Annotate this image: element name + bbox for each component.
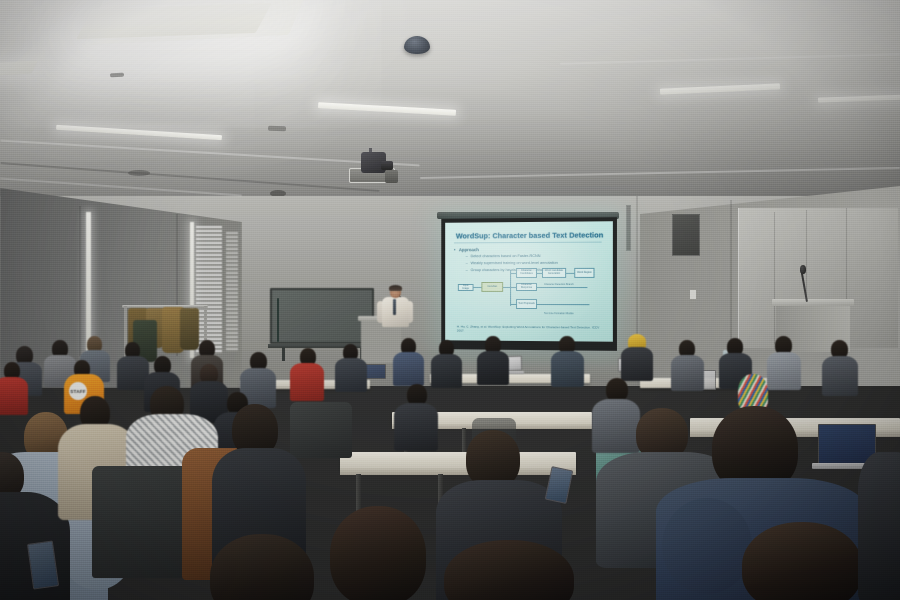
attendee-head <box>330 506 426 600</box>
attendee-torso <box>393 352 424 386</box>
ceiling-vent <box>268 126 286 132</box>
attendee-torso <box>621 347 653 381</box>
attendee-torso <box>767 352 801 390</box>
diagram-connector <box>537 304 589 305</box>
slide-bullet-2: Detect characters based on Faster-RCNN <box>471 254 541 258</box>
diagram-connector <box>474 287 482 288</box>
diagram-block-input: Input Image <box>458 284 474 291</box>
presenter <box>378 286 412 330</box>
attendee-torso <box>335 358 367 392</box>
projector-junction-box <box>385 170 398 183</box>
attendee-shoulder <box>662 498 752 594</box>
diagram-block-char-cand: Character Candidates <box>516 268 537 278</box>
projector-lens <box>381 161 393 170</box>
attendee-torso <box>671 355 704 391</box>
lecture-hall-photo: WordSup: Character based Text Detection … <box>0 0 900 600</box>
presenter-hair <box>389 285 402 291</box>
diagram-block-convnet: ConvNet <box>481 282 503 292</box>
whiteboard-cable <box>277 298 279 342</box>
diagram-connector <box>566 273 574 274</box>
diagram-block-text-proposals: Text Proposals <box>516 299 537 309</box>
wall-corner-joint <box>636 196 638 352</box>
wall-outlet <box>690 290 696 299</box>
attendee-torso <box>290 363 324 401</box>
attendee-torso <box>822 356 858 396</box>
lectern-right-top <box>772 299 854 306</box>
diagram-block-char-response: Character Response <box>516 283 537 291</box>
diagram-block-word-region: Word Region <box>574 268 594 278</box>
desk-edge <box>340 468 576 475</box>
dome-security-camera <box>404 36 430 54</box>
diagram-connector <box>537 287 587 288</box>
attendee-torso <box>592 399 640 453</box>
attendee-torso <box>551 351 584 387</box>
diagram-connector <box>503 287 510 288</box>
ceiling-vent <box>110 73 124 78</box>
slide-title: WordSup: Character based Text Detection <box>456 230 607 240</box>
wall-corner-joint <box>730 200 732 350</box>
ceiling-speaker <box>128 170 150 176</box>
wall-panel-joint <box>79 206 81 356</box>
chair <box>290 402 352 458</box>
attendee-torso <box>0 377 28 415</box>
attendee-torso <box>477 351 509 385</box>
diagram-block-word-gen: Word Candidate Generation <box>542 268 566 278</box>
projection-screen: WordSup: Character based Text Detection … <box>441 217 617 351</box>
slide-bullet-3: Weakly supervised training on word-level… <box>471 261 558 265</box>
attendee-torso <box>394 403 438 451</box>
attendee-head <box>742 522 862 600</box>
slide-title-rule <box>454 242 602 244</box>
attendee-torso <box>858 452 900 600</box>
presenter-tie <box>393 299 396 315</box>
ceiling-projector <box>349 152 399 186</box>
diagram-caption-char-branch: Character Detection Branch <box>544 283 574 286</box>
door-edge <box>774 212 775 344</box>
hanging-coat <box>180 308 199 350</box>
wall-speaker-panel <box>626 205 631 251</box>
chair <box>92 466 190 578</box>
microphone-head <box>800 265 806 274</box>
attendee-torso <box>431 354 462 388</box>
diagram-caption-textline: Text Line Formation Module <box>544 312 574 315</box>
slide-citation: H. Hu, C. Zhang, et al. WordSup: Exploit… <box>457 324 603 334</box>
whiteboard-leg <box>282 347 285 361</box>
presentation-slide: WordSup: Character based Text Detection … <box>445 221 613 341</box>
window-blinds <box>226 232 238 352</box>
slide-bullet-1: Approach <box>459 247 479 252</box>
window-blinds <box>196 226 222 354</box>
staff-badge: STAFF <box>69 382 87 400</box>
wall-speaker-panel <box>672 214 700 256</box>
diagram-bus <box>510 270 511 306</box>
laptop <box>364 364 386 379</box>
